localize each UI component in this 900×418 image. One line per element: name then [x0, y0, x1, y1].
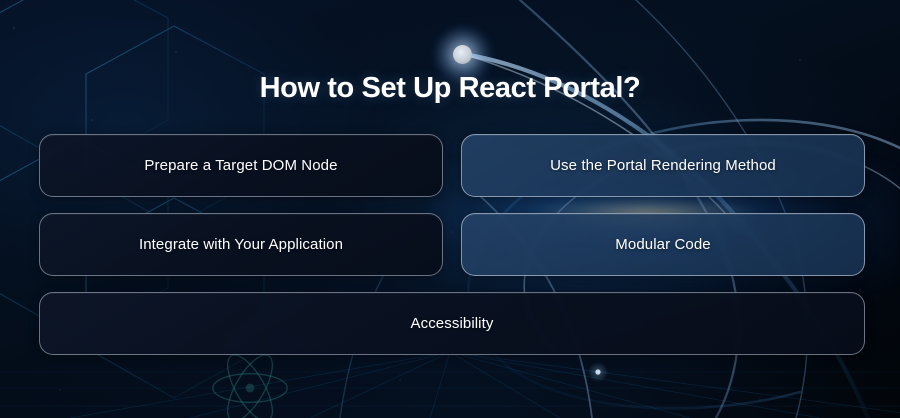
card-row: Prepare a Target DOM Node Use the Portal…	[39, 134, 865, 197]
steps-card-grid: Prepare a Target DOM Node Use the Portal…	[39, 134, 865, 355]
card-label: Use the Portal Rendering Method	[550, 157, 776, 174]
content-root: How to Set Up React Portal? Prepare a Ta…	[0, 0, 900, 418]
card-label: Modular Code	[615, 236, 710, 253]
card-label: Prepare a Target DOM Node	[144, 157, 337, 174]
card-row: Accessibility	[39, 292, 865, 355]
card-prepare-target-dom-node[interactable]: Prepare a Target DOM Node	[39, 134, 443, 197]
card-label: Accessibility	[411, 315, 494, 332]
card-modular-code[interactable]: Modular Code	[461, 213, 865, 276]
card-use-portal-rendering-method[interactable]: Use the Portal Rendering Method	[461, 134, 865, 197]
page-title: How to Set Up React Portal?	[0, 72, 900, 105]
card-row: Integrate with Your Application Modular …	[39, 213, 865, 276]
infographic-canvas: How to Set Up React Portal? Prepare a Ta…	[0, 0, 900, 418]
card-label: Integrate with Your Application	[139, 236, 343, 253]
card-accessibility[interactable]: Accessibility	[39, 292, 865, 355]
card-integrate-with-your-application[interactable]: Integrate with Your Application	[39, 213, 443, 276]
